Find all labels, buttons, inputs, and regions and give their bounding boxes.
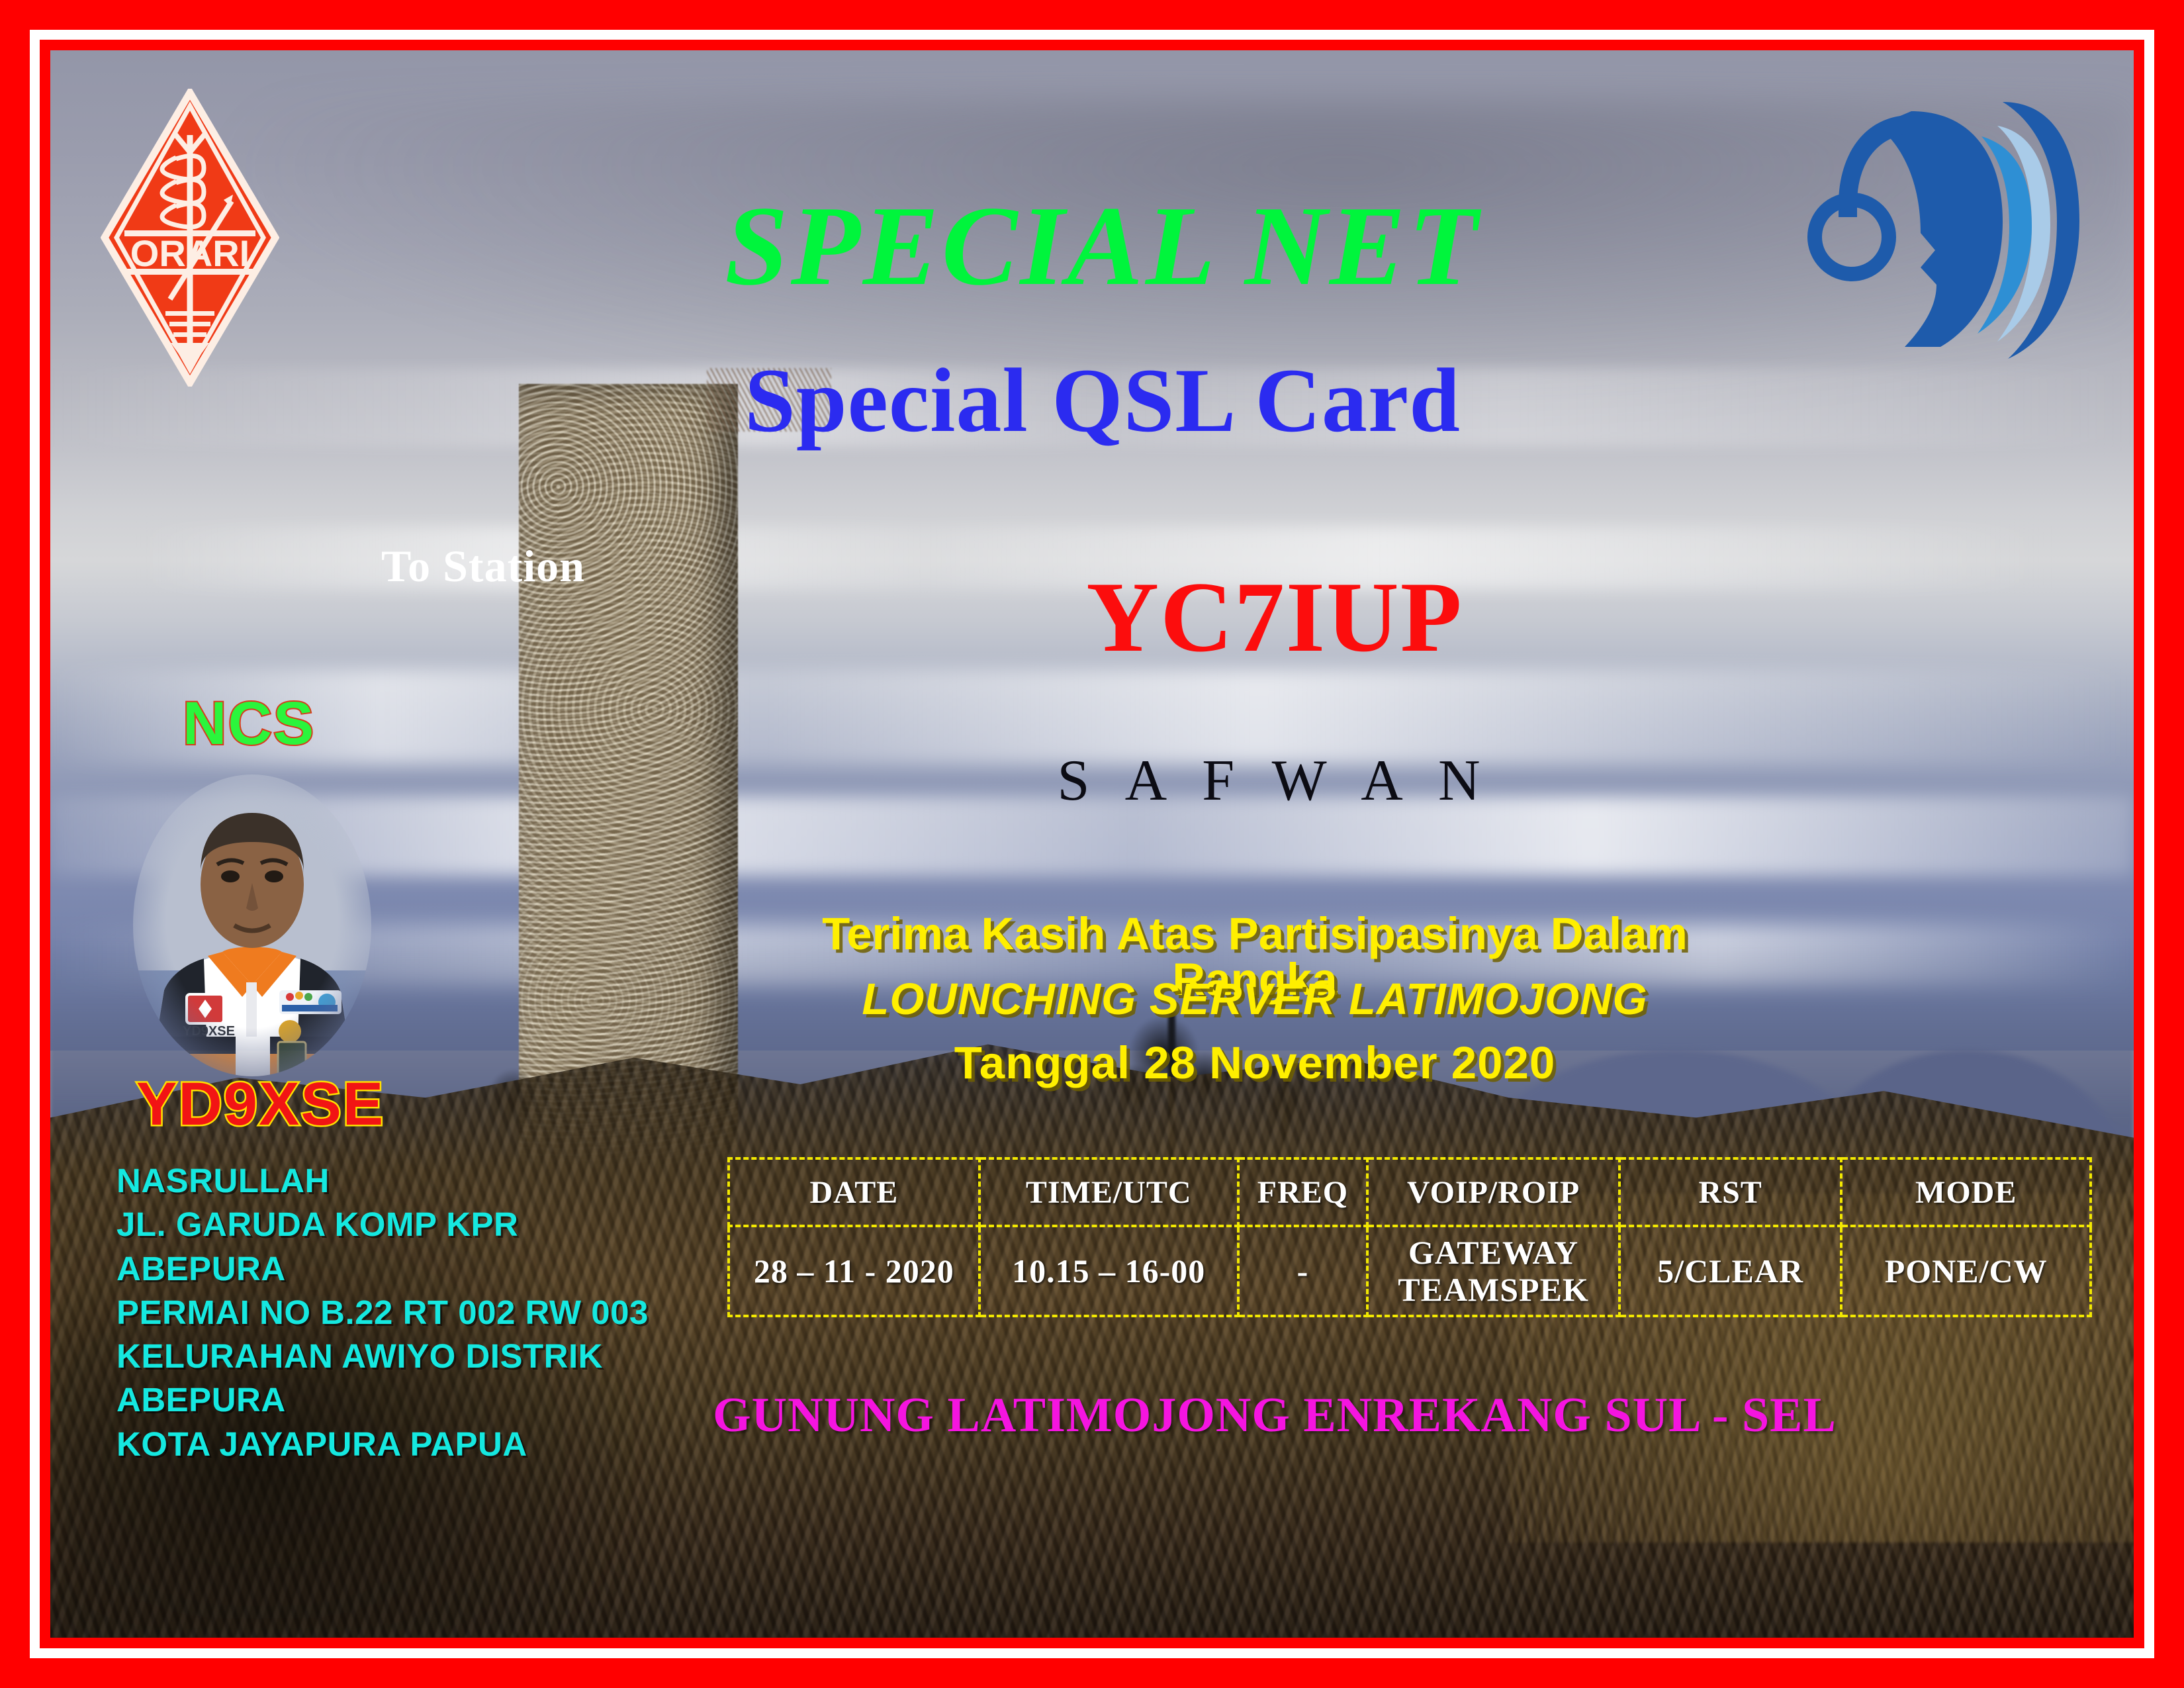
cell-rst: 5/CLEAR bbox=[1619, 1226, 1841, 1316]
to-station-label: To Station bbox=[381, 540, 585, 592]
cell-date: 28 – 11 - 2020 bbox=[729, 1226, 979, 1316]
footer-address: Address : amatir.latimojong.com bbox=[1328, 1631, 2015, 1638]
event-date-line: Tanggal 28 November 2020 bbox=[752, 1040, 1758, 1086]
page-subtitle: Special QSL Card bbox=[474, 355, 1731, 446]
cell-voip-line2: TEAMSPEK bbox=[1398, 1271, 1589, 1308]
address-line: KOTA JAYAPURA PAPUA bbox=[116, 1423, 679, 1466]
cell-freq: - bbox=[1238, 1226, 1368, 1316]
footer-motto: "AMATIR RADIO ADALAH PROGRESIVE" bbox=[128, 1631, 1111, 1638]
address-line: NASRULLAH bbox=[116, 1159, 679, 1203]
address-line: PERMAI NO B.22 RT 002 RW 003 bbox=[116, 1291, 679, 1335]
column-header-freq: FREQ bbox=[1238, 1158, 1368, 1226]
column-header-time: TIME/UTC bbox=[979, 1158, 1238, 1226]
cell-mode: PONE/CW bbox=[1841, 1226, 2091, 1316]
headset-profile-icon bbox=[1804, 85, 2082, 369]
card-photo-background: ORARI SPECIAL NET Spe bbox=[50, 50, 2134, 1638]
column-header-voip: VOIP/ROIP bbox=[1367, 1158, 1619, 1226]
page-title: SPECIAL NET bbox=[474, 189, 1731, 303]
address-line: JL. GARUDA KOMP KPR bbox=[116, 1203, 679, 1246]
orari-logo: ORARI bbox=[101, 89, 279, 387]
address-block: NASRULLAH JL. GARUDA KOMP KPR ABEPURA PE… bbox=[116, 1159, 679, 1466]
station-callsign: YC7IUP bbox=[911, 567, 1639, 667]
table-row: 28 – 11 - 2020 10.15 – 16-00 - GATEWAY T… bbox=[729, 1226, 2091, 1316]
orari-logo-text: ORARI bbox=[130, 232, 250, 274]
column-header-mode: MODE bbox=[1841, 1158, 2091, 1226]
column-header-date: DATE bbox=[729, 1158, 979, 1226]
qsl-card: ORARI SPECIAL NET Spe bbox=[0, 0, 2184, 1688]
cell-voip: GATEWAY TEAMSPEK bbox=[1367, 1226, 1619, 1316]
ncs-operator-photo: YD9XSE bbox=[123, 772, 381, 1080]
shirt-callsign-text: YD9XSE bbox=[183, 1024, 235, 1039]
cell-voip-line1: GATEWAY bbox=[1408, 1234, 1578, 1271]
column-header-rst: RST bbox=[1619, 1158, 1841, 1226]
ncs-label: NCS bbox=[183, 689, 315, 759]
address-line: KELURAHAN AWIYO DISTRIK bbox=[116, 1335, 679, 1378]
event-location: GUNUNG LATIMOJONG ENREKANG SUL - SEL bbox=[633, 1391, 1917, 1440]
address-line: ABEPURA bbox=[116, 1378, 679, 1422]
qso-log-table: DATE TIME/UTC FREQ VOIP/ROIP RST MODE 28… bbox=[727, 1157, 2092, 1317]
operator-name: S A F W A N bbox=[911, 752, 1639, 810]
cell-time: 10.15 – 16-00 bbox=[979, 1226, 1238, 1316]
address-line: ABEPURA bbox=[116, 1247, 679, 1291]
ncs-callsign: YD9XSE bbox=[136, 1070, 385, 1139]
table-header-row: DATE TIME/UTC FREQ VOIP/ROIP RST MODE bbox=[729, 1158, 2091, 1226]
event-title-line: LOUNCHING SERVER LATIMOJONG bbox=[752, 977, 1758, 1021]
